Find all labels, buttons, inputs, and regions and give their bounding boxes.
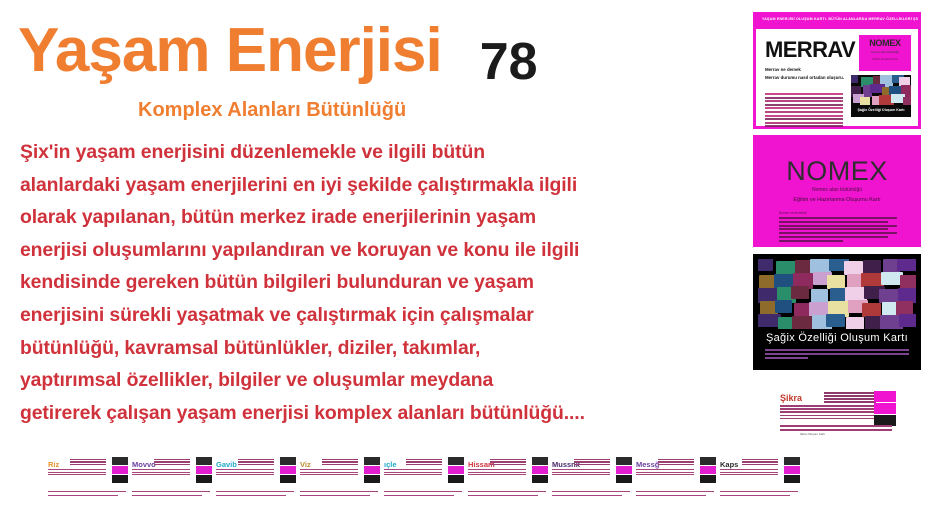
strip-thumbnail-movvo[interactable]: Movvo <box>130 454 216 500</box>
merrav-card-inner: YAŞAM ENERJİSİ OLUŞUM KARTI. BÜTÜN ALANL… <box>756 15 918 126</box>
nomex-subtitle: Nomex alan bütünlüğü <box>753 187 921 193</box>
merrav-inset-nomex: NOMEX Nomex alan bütünlüğü ÖZELLİKLER AL… <box>859 35 911 71</box>
strip-thumbnail-mussnk[interactable]: Mussnk <box>550 454 636 500</box>
thumbnail-merrav-card[interactable]: YAŞAM ENERJİSİ OLUŞUM KARTI. BÜTÜN ALANL… <box>753 12 921 129</box>
strip-rule-1 <box>552 491 630 492</box>
strip-body-lines <box>552 469 610 477</box>
strip-body-lines <box>300 469 358 477</box>
inset-collage-caption: Şağix Özelliği Oluşum Kartı <box>851 108 911 112</box>
strip-thumbnail-label: Riz <box>48 460 59 469</box>
collage-tile <box>900 275 916 289</box>
main-content: Yaşam Enerjisi78 Komplex Alanları Bütünl… <box>0 0 748 527</box>
thumbnail-sikra-card[interactable]: Şikra Şikra Oluşum Kartı <box>776 388 898 436</box>
strip-thumbnail-label: ıçle <box>384 460 397 469</box>
strip-head-lines <box>406 459 442 466</box>
strip-chips <box>364 457 380 484</box>
collage-tile <box>758 259 773 271</box>
collage-tile <box>851 75 858 83</box>
title-row: Yaşam Enerjisi78 <box>18 8 738 94</box>
strip-chips <box>112 457 128 484</box>
bottom-thumbnail-strip: RizMovvoGavibVizıçleHissamMussnkMessğKap… <box>0 452 748 512</box>
strip-chips <box>532 457 548 484</box>
collage-tile <box>792 316 813 329</box>
body-paragraph: Şix'in yaşam enerjisini düzenlemekle ve … <box>20 136 738 429</box>
strip-thumbnail-label: Movvo <box>132 460 156 469</box>
strip-rule-2 <box>48 495 118 496</box>
strip-head-lines <box>322 459 358 466</box>
strip-head-lines <box>658 459 694 466</box>
strip-rule-1 <box>48 491 126 492</box>
collage-tile <box>862 303 881 317</box>
body-line: olarak yapılanan, bütün merkez irade ene… <box>20 201 738 234</box>
strip-rule-1 <box>636 491 714 492</box>
body-line: kendisinde gereken bütün bilgileri bulun… <box>20 266 738 299</box>
sikra-title: Şikra <box>780 393 802 403</box>
merrav-inset-collage: Şağix Özelliği Oluşum Kartı <box>851 75 911 117</box>
strip-thumbnail-ıçle[interactable]: ıçle <box>382 454 468 500</box>
strip-thumbnail-label: Kaps <box>720 460 738 469</box>
strip-body-lines <box>216 469 274 477</box>
collage-tile <box>860 97 870 105</box>
body-line: enerjisi oluşumlarını yapılandıran ve ko… <box>20 234 738 267</box>
strip-rule-1 <box>132 491 210 492</box>
collage-tile <box>899 314 916 327</box>
strip-head-lines <box>574 459 610 466</box>
inset-nomex-title: NOMEX <box>859 38 911 48</box>
thumbnail-collage-card[interactable]: Şağix Özelliği Oluşum Kartı <box>753 254 921 370</box>
collage-mosaic <box>851 75 911 105</box>
strip-thumbnail-riz[interactable]: Riz <box>46 454 132 500</box>
sikra-body-lines <box>780 405 874 421</box>
merrav-title: MERRAV <box>765 37 855 63</box>
strip-rule-1 <box>300 491 378 492</box>
strip-thumbnail-hissam[interactable]: Hissam <box>466 454 552 500</box>
strip-thumbnail-messğ[interactable]: Messğ <box>634 454 720 500</box>
sikra-rule-1 <box>780 425 892 427</box>
merrav-lead-text <box>765 87 840 91</box>
strip-rule-2 <box>552 495 622 496</box>
merrav-banner-text: YAŞAM ENERJİSİ OLUŞUM KARTI. BÜTÜN ALANL… <box>756 15 918 22</box>
strip-rule-2 <box>132 495 202 496</box>
collage-tile <box>846 317 864 329</box>
inset-nomex-sub2: ÖZELLİKLER ALANI <box>859 57 911 61</box>
page-number: 78 <box>480 32 538 92</box>
strip-body-lines <box>468 469 526 477</box>
merrav-banner: YAŞAM ENERJİSİ OLUŞUM KARTI. BÜTÜN ALANL… <box>756 15 918 29</box>
strip-chips <box>448 457 464 484</box>
collage-tile <box>897 259 916 271</box>
nomex-lead: Nomex ne demektir <box>779 211 807 215</box>
body-line: yaptırımsal özellikler, bilgiler ve oluş… <box>20 364 738 397</box>
strip-rule-2 <box>300 495 370 496</box>
collage-tile <box>791 286 809 299</box>
strip-rule-2 <box>384 495 454 496</box>
strip-body-lines <box>48 469 106 477</box>
strip-thumbnail-label: Messğ <box>636 460 659 469</box>
strip-rule-2 <box>636 495 706 496</box>
body-line: getirerek çalışan yaşam enerjisi komplex… <box>20 397 738 430</box>
collage-title: Şağix Özelliği Oluşum Kartı <box>753 332 921 344</box>
collage-tile <box>826 314 845 327</box>
collage-mosaic <box>758 259 916 329</box>
strip-chips <box>196 457 212 484</box>
collage-tile <box>811 289 828 303</box>
collage-footer-lines <box>765 349 909 361</box>
sikra-head-lines <box>824 392 876 404</box>
sikra-footer: Şikra Oluşum Kartı <box>800 432 825 436</box>
strip-head-lines <box>238 459 274 466</box>
strip-rule-1 <box>468 491 546 492</box>
nomex-title: NOMEX <box>753 156 921 187</box>
merrav-subtitle-2: Merrav durumu nasıl ortadan oluşuru. <box>765 75 844 80</box>
nomex-body-lines <box>779 217 897 244</box>
collage-tile <box>775 300 792 313</box>
page-subtitle: Komplex Alanları Bütünlüğü <box>138 99 406 122</box>
strip-rule-1 <box>216 491 294 492</box>
page-title: Yaşam Enerjisi <box>18 8 442 94</box>
strip-body-lines <box>636 469 694 477</box>
sikra-rule-2 <box>780 429 892 431</box>
strip-chips <box>616 457 632 484</box>
strip-thumbnail-label: Viz <box>300 460 311 469</box>
strip-chips <box>700 457 716 484</box>
sidebar-thumbnails: YAŞAM ENERJİSİ OLUŞUM KARTI. BÜTÜN ALANL… <box>748 0 925 527</box>
strip-rule-2 <box>468 495 538 496</box>
collage-tile <box>827 275 845 289</box>
sikra-chips <box>874 391 896 427</box>
body-line: enerjisini sürekli yaşatmak ve çalıştırm… <box>20 299 738 332</box>
strip-thumbnail-viz[interactable]: Viz <box>298 454 384 500</box>
strip-chips <box>280 457 296 484</box>
strip-head-lines <box>70 459 106 466</box>
merrav-subtitle-1: Merrav ne demek <box>765 67 801 72</box>
strip-head-lines <box>490 459 526 466</box>
strip-body-lines <box>384 469 442 477</box>
nomex-subtitle-2: Eğitim ve Hazırlanma Oluşumu Kartı <box>753 197 921 203</box>
inset-nomex-sub: Nomex alan bütünlüğü <box>859 50 911 54</box>
strip-thumbnail-gavib[interactable]: Gavib <box>214 454 300 500</box>
body-line: bütünlüğü, kavramsal bütünlükler, dizile… <box>20 332 738 365</box>
strip-rule-2 <box>216 495 286 496</box>
body-line: Şix'in yaşam enerjisini düzenlemekle ve … <box>20 136 738 169</box>
strip-head-lines <box>154 459 190 466</box>
thumbnail-nomex-card[interactable]: NOMEX Nomex alan bütünlüğü Eğitim ve Haz… <box>753 135 921 247</box>
slide-canvas: Yaşam Enerjisi78 Komplex Alanları Bütünl… <box>0 0 925 527</box>
merrav-body-lines <box>765 93 843 129</box>
strip-thumbnail-label: Gavib <box>216 460 237 469</box>
collage-tile <box>903 97 911 105</box>
strip-rule-1 <box>384 491 462 492</box>
strip-body-lines <box>132 469 190 477</box>
body-line: alanlardaki yaşam enerjilerini en iyi şe… <box>20 169 738 202</box>
